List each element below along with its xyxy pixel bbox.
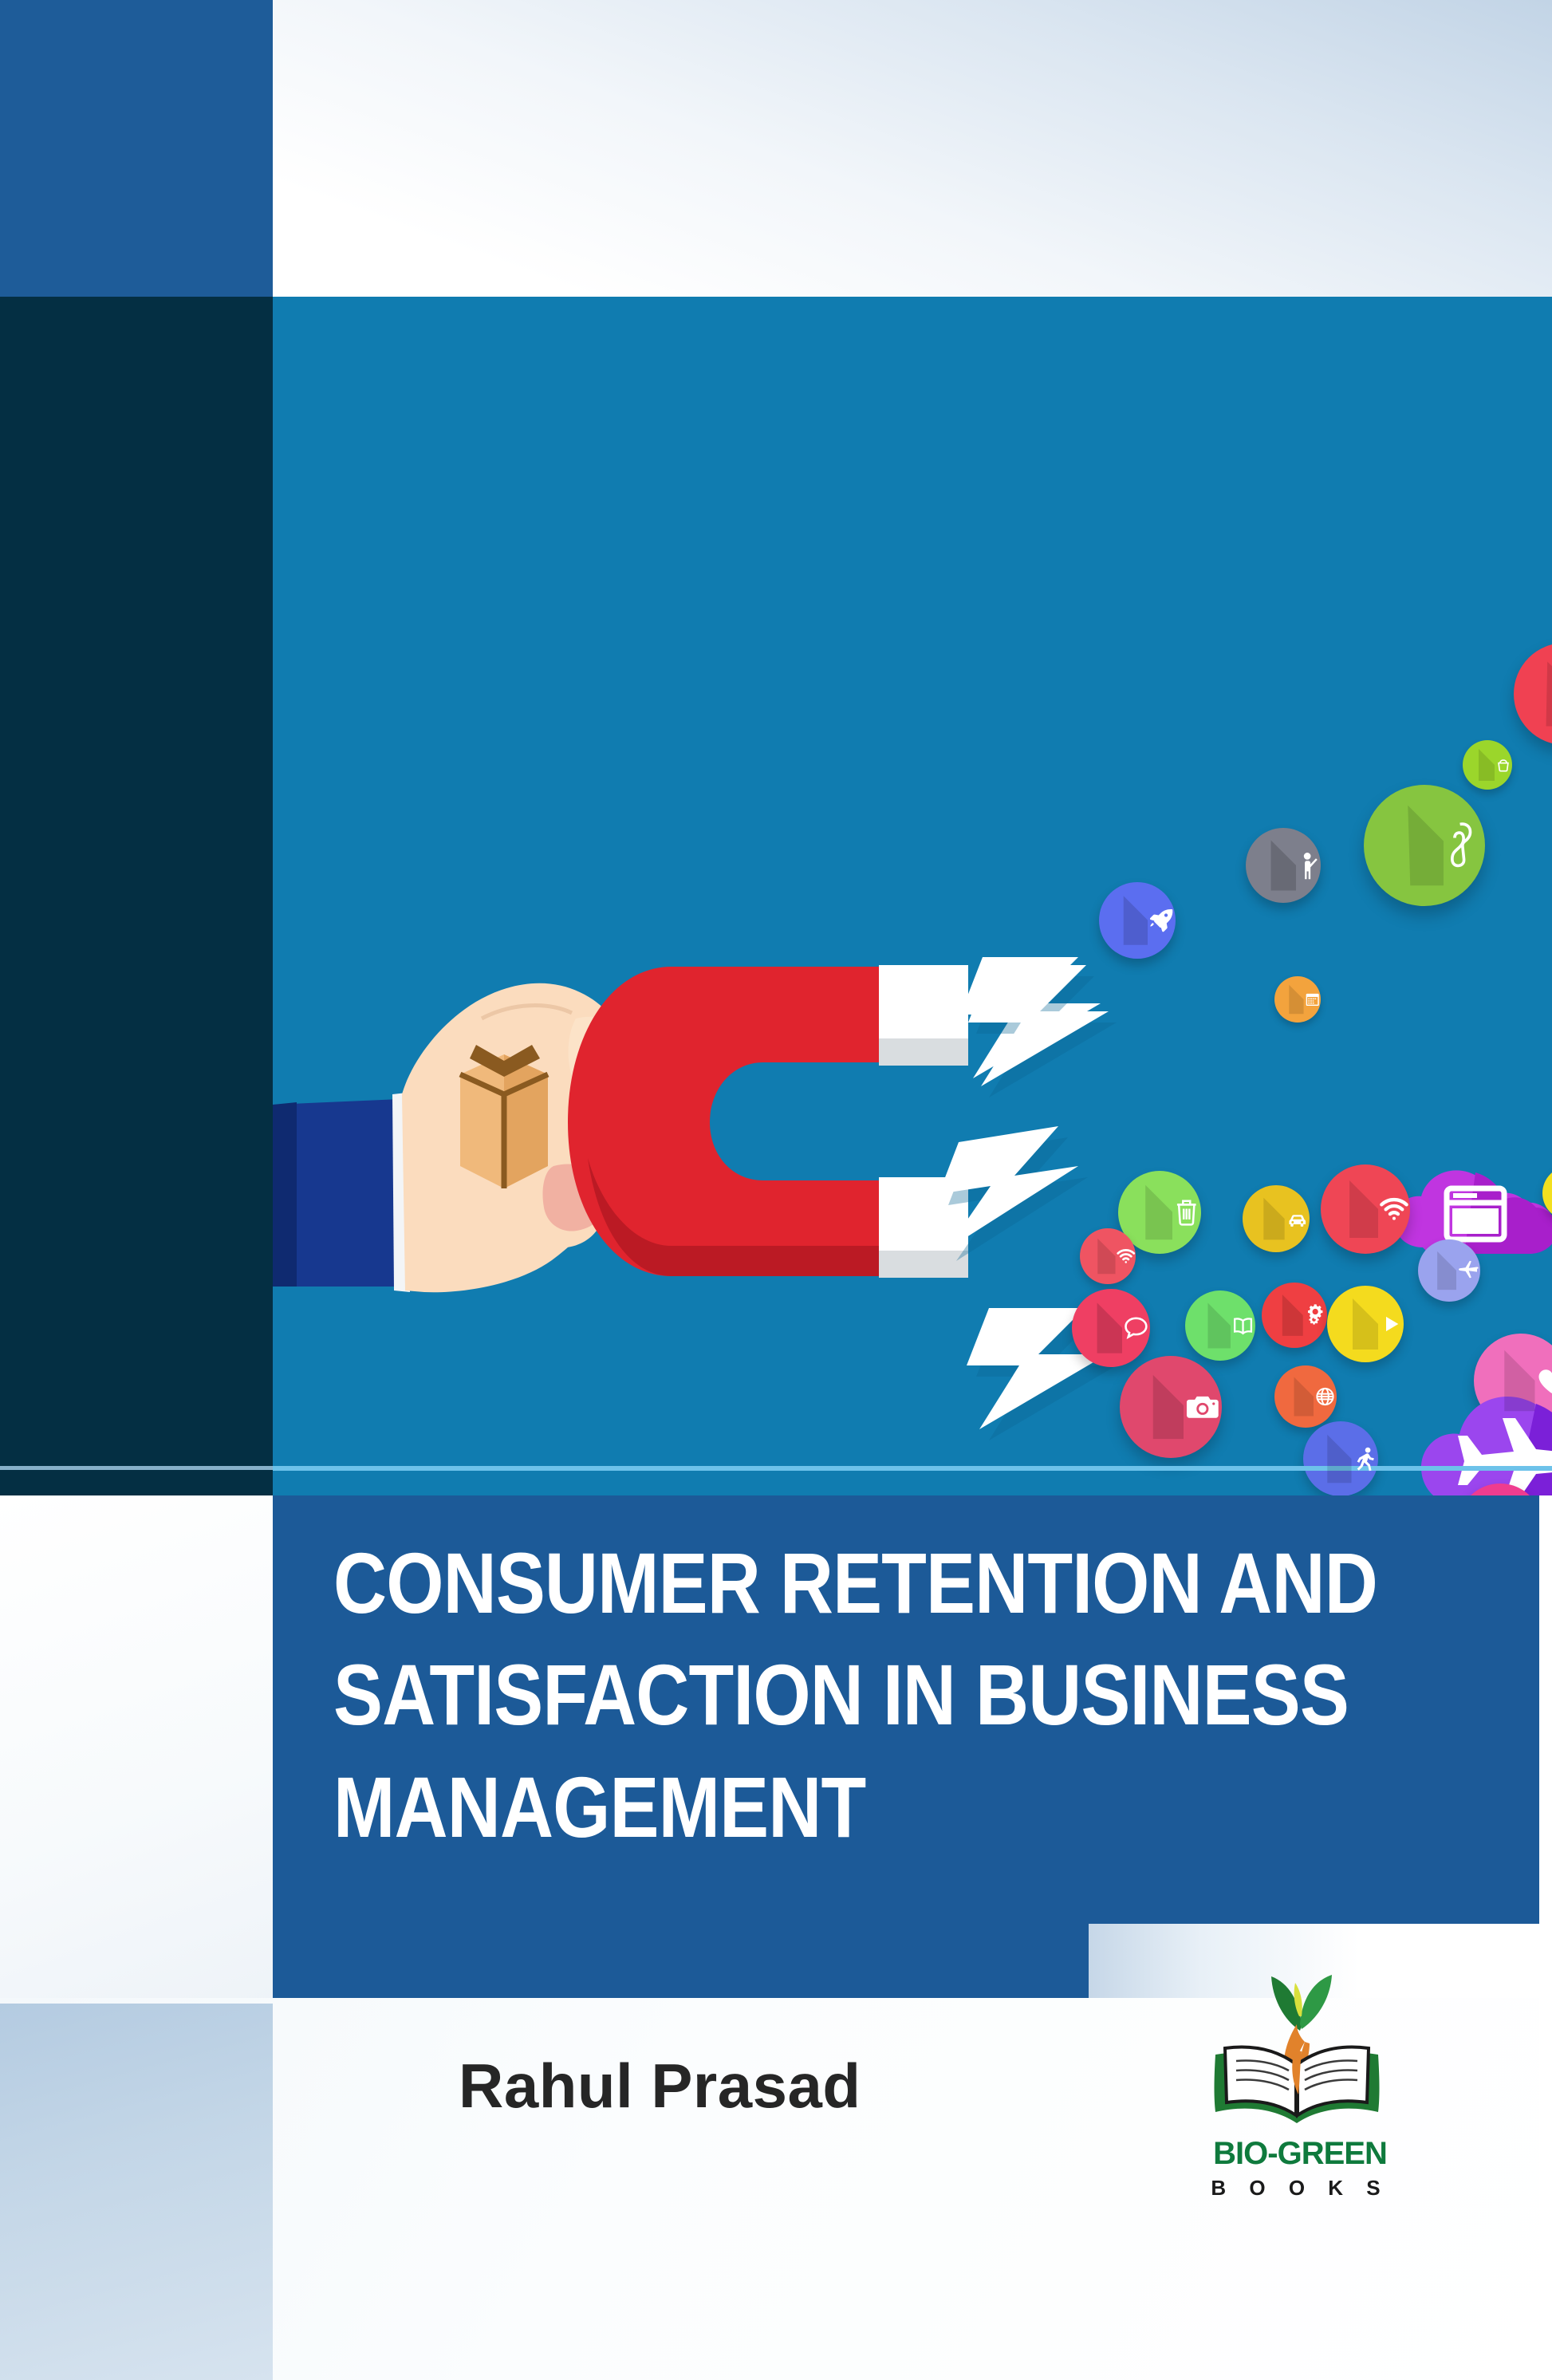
title-line-3: MANAGEMENT (333, 1752, 1321, 1863)
publisher-logo: BIO-GREEN B O O K S (1180, 1954, 1420, 2217)
publisher-name: BIO-GREEN (1180, 2136, 1420, 2172)
wifi-icon-large (1321, 1164, 1410, 1254)
magnet-illustration (273, 297, 1552, 1495)
right-edge-margin (1539, 1495, 1552, 2380)
top-left-color-block (0, 0, 273, 297)
trash-icon (1118, 1171, 1201, 1254)
play-icon (1327, 1286, 1404, 1362)
phone-icon (1364, 785, 1485, 906)
page-title: CONSUMER RETENTION AND SATISFACTION IN B… (333, 1527, 1321, 1863)
lower-left-panel (0, 1495, 273, 2004)
title-line-1: CONSUMER RETENTION AND (333, 1527, 1321, 1639)
music-icon (1542, 1166, 1552, 1220)
footer-left-gradient (0, 2004, 273, 2380)
top-header-band (273, 0, 1552, 297)
airplane-icon (1418, 1239, 1480, 1302)
book-icon (1185, 1290, 1255, 1361)
gears-icon-large (1514, 643, 1552, 745)
publisher-subtitle: B O O K S (1180, 2176, 1420, 2201)
lightning-bolt-icon (960, 957, 1117, 1097)
rocket-icon (1099, 882, 1176, 959)
runner-icon (1303, 1421, 1378, 1495)
camera-icon (1120, 1356, 1222, 1458)
open-book-with-sprout-logo (1180, 1954, 1420, 2142)
calendar-icon (1274, 976, 1321, 1023)
car-icon (1243, 1185, 1310, 1252)
gears-icon-small (1262, 1283, 1327, 1348)
spine-accent-line (0, 1466, 273, 1470)
author-name: Rahul Prasad (459, 2050, 861, 2122)
book-cover: CONSUMER RETENTION AND SATISFACTION IN B… (0, 0, 1552, 2380)
globe-icon (1274, 1365, 1337, 1428)
spine-panel (0, 297, 273, 1495)
person-icon (1246, 828, 1321, 903)
horseshoe-magnet-icon (568, 965, 968, 1278)
title-line-2: SATISFACTION IN BUSINESS (333, 1639, 1321, 1751)
paint-bucket-icon (1463, 740, 1512, 790)
